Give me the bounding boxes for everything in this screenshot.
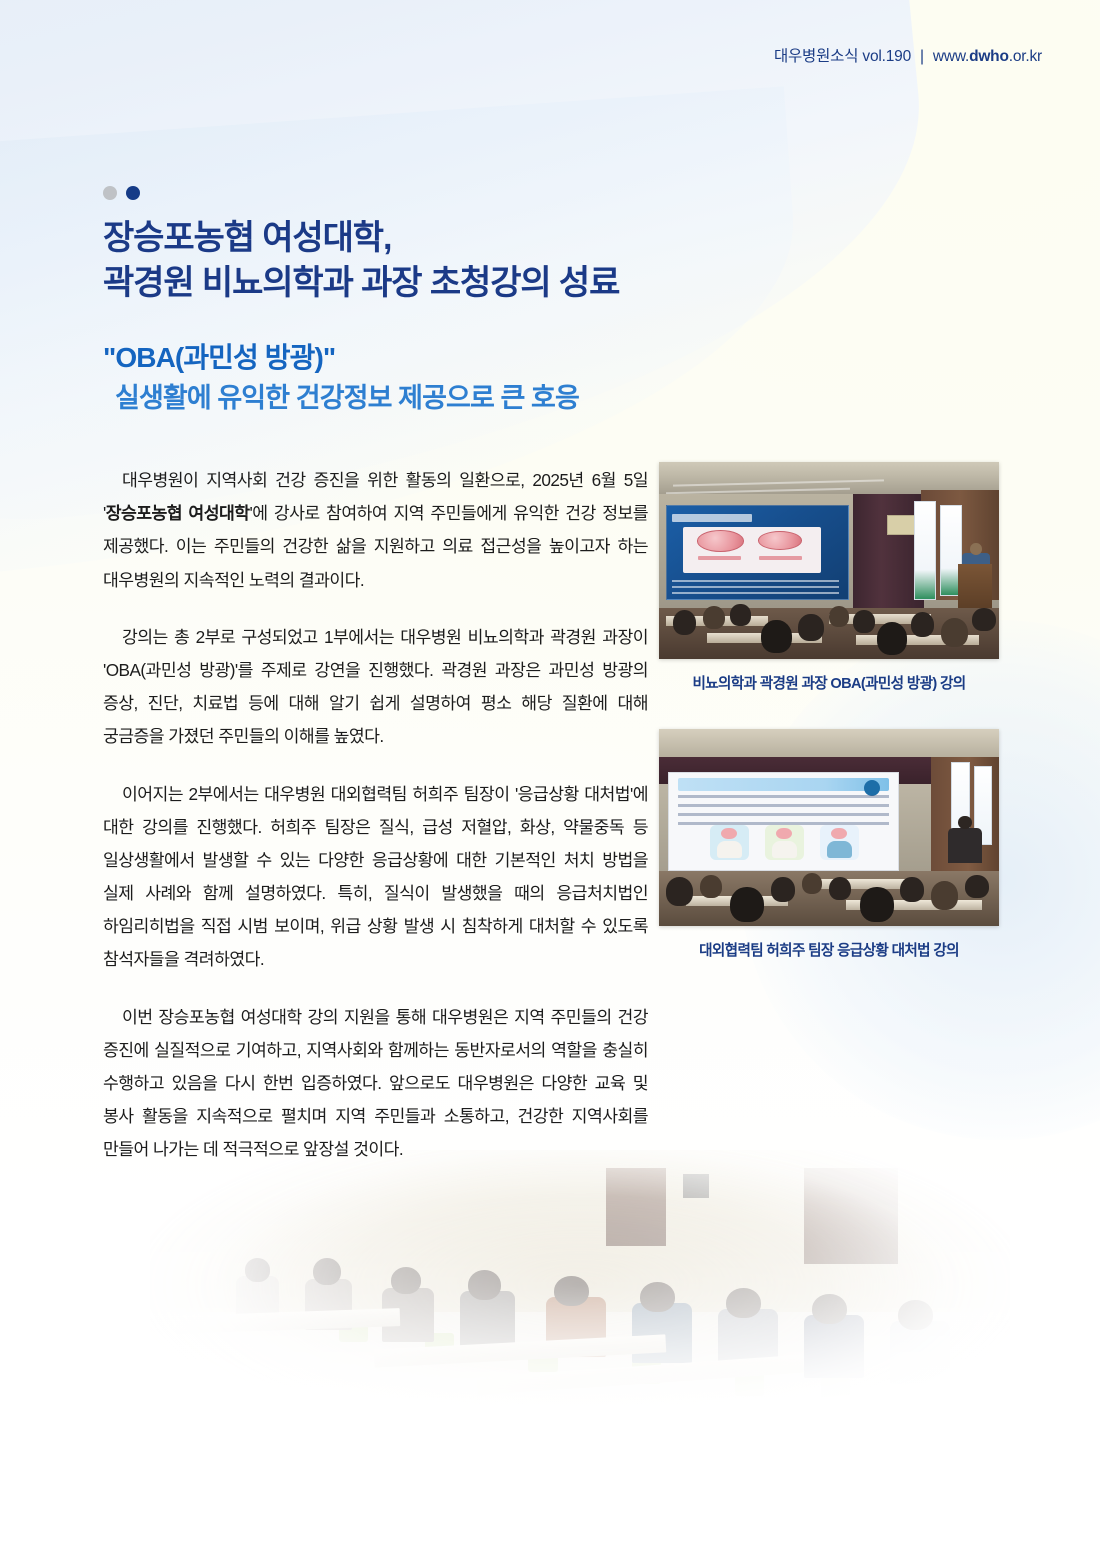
bottom-photo-attendee-head <box>640 1282 674 1312</box>
figure-emergency-lecture: 대외협력팀 허희주 팀장 응급상황 대처법 강의 <box>659 729 999 960</box>
photo2-illustration-body <box>772 841 797 858</box>
photo2-projection-screen <box>668 772 899 871</box>
photo1-slide-diagram-card <box>683 527 821 573</box>
article-paragraph-2: 강의는 총 2부로 구성되었고 1부에서는 대우병원 비뇨의학과 곽경원 과장이… <box>103 621 648 754</box>
masthead: 대우병원소식 vol.190|www.dwho.or.kr <box>774 44 1042 66</box>
photo1-diagram-bladder-relaxed <box>697 530 744 551</box>
page-title-line2: 곽경원 비뇨의학과 과장 초청강의 성료 <box>103 261 803 306</box>
article-body: 대우병원이 지역사회 건강 증진을 위한 활동의 일환으로, 2025년 6월 … <box>103 464 648 1167</box>
photo1-audience-head <box>877 622 908 655</box>
photo2-audience-head <box>771 877 795 903</box>
photo1-audience-head <box>761 620 792 653</box>
article-paragraph-3: 이어지는 2부에서는 대우병원 대외협력팀 허희주 팀장이 '응급상황 대처법'… <box>103 778 648 977</box>
photo1-audience-head <box>911 612 935 638</box>
photo2-audience-head <box>700 875 722 899</box>
photo1-diagram-arrow-1 <box>698 556 741 560</box>
article-paragraph-1: 대우병원이 지역사회 건강 증진을 위한 활동의 일환으로, 2025년 6월 … <box>103 464 648 597</box>
bottom-photo-attendee-head <box>726 1288 760 1318</box>
newsletter-page: 대우병원소식 vol.190|www.dwho.or.kr 장승포농협 여성대학… <box>0 0 1100 1556</box>
photo1-audience-head <box>673 610 697 636</box>
masthead-url[interactable]: www.dwho.or.kr <box>933 48 1042 65</box>
photo2-slide-illustration-3 <box>820 825 859 860</box>
photo2-illustration-head <box>721 828 737 840</box>
page-subtitle: "OBA(과민성 방광)" 실생활에 유익한 건강정보 제공으로 큰 호응 <box>103 340 803 416</box>
photo1-audience-head <box>730 604 750 626</box>
article-paragraph-4: 이번 장승포농협 여성대학 강의 지원을 통해 대우병원은 지역 주민들의 건강… <box>103 1001 648 1167</box>
bottom-photo-attendee-body <box>804 1315 864 1378</box>
page-subtitle-line2: 실생활에 유익한 건강정보 제공으로 큰 호응 <box>103 380 803 416</box>
photo2-audience-head <box>931 881 958 911</box>
photo1-audience-head <box>941 618 968 648</box>
bottom-photo-attendee-body <box>890 1321 950 1384</box>
photo2-desk-1 <box>812 879 907 889</box>
masthead-url-prefix: www. <box>933 48 969 65</box>
photo1-audience-head <box>829 606 849 628</box>
photo2-audience-head <box>802 873 822 895</box>
photo1-projection-screen <box>666 505 850 600</box>
photo1-speaker-head <box>970 543 982 555</box>
photo1-audience-head <box>798 614 824 642</box>
photo2-slide-illustration-2 <box>765 825 804 860</box>
masthead-url-suffix: .or.kr <box>1009 48 1042 65</box>
bottom-photo-door-1 <box>606 1168 666 1246</box>
photo1-diagram-arrow-2 <box>759 556 802 560</box>
photo2-audience-head <box>860 887 894 922</box>
photo2-illustration-body <box>717 841 742 858</box>
bottom-photo-attendee-head <box>554 1276 588 1306</box>
photo2-slide-header-bar <box>678 778 889 791</box>
bottom-photo-attendee-head <box>391 1267 421 1294</box>
page-title: 장승포농협 여성대학, 곽경원 비뇨의학과 과장 초청강의 성료 <box>103 216 803 306</box>
title-block: 장승포농협 여성대학, 곽경원 비뇨의학과 과장 초청강의 성료 "OBA(과민… <box>103 186 803 416</box>
photo2-ceiling <box>659 729 999 759</box>
masthead-url-brand: dwho <box>969 48 1009 65</box>
photo1-slide-text-lines <box>672 580 839 595</box>
bottom-photo-speaker-box <box>683 1174 709 1198</box>
photo2-audience-head <box>730 887 764 922</box>
figure-caption-emergency: 대외협력팀 허희주 팀장 응급상황 대처법 강의 <box>659 939 999 960</box>
photo2-slide-text-lines <box>678 795 889 826</box>
photo1-slide-title-bar <box>672 514 752 522</box>
photo-emergency-lecture <box>659 729 999 926</box>
photo-audience-wide <box>150 1150 1010 1450</box>
bottom-photo-attendee-head <box>898 1300 932 1330</box>
photo1-audience-head <box>853 610 875 634</box>
photo2-illustration-head <box>831 828 847 840</box>
photo2-speaker-head <box>958 816 972 830</box>
bottom-photo-attendee-head <box>812 1294 846 1324</box>
page-title-line1: 장승포농협 여성대학, <box>103 216 803 261</box>
photo2-slide-illustration-1 <box>710 825 749 860</box>
photo1-side-panel <box>887 515 918 535</box>
photo2-audience-head <box>965 875 989 899</box>
bottom-photo-attendee-head <box>245 1258 271 1282</box>
photo2-illustration-head <box>776 828 792 840</box>
photo1-banner-left <box>914 501 936 600</box>
photo2-speaker-body <box>948 828 982 863</box>
paragraph-1-emphasis: 장승포농협 여성대학 <box>106 503 250 523</box>
bottom-photo-door-2 <box>804 1168 899 1264</box>
bottom-photo-attendee-head <box>468 1270 501 1300</box>
masthead-separator: | <box>920 48 924 65</box>
photo2-audience-head <box>900 877 924 903</box>
decorative-dots <box>103 186 803 200</box>
photo2-audience-head <box>829 877 851 901</box>
photo2-illustration-body <box>827 841 852 858</box>
photo1-audience-head <box>703 606 725 630</box>
dot-navy-icon <box>126 186 140 200</box>
figure-caption-urology: 비뇨의학과 곽경원 과장 OBA(과민성 방광) 강의 <box>659 672 999 693</box>
page-subtitle-line1: "OBA(과민성 방광)" <box>103 340 803 376</box>
photo1-diagram-bladder-contracted <box>758 531 802 550</box>
bottom-photo-attendee-body <box>632 1303 692 1363</box>
bottom-photo-attendee-head <box>313 1258 341 1285</box>
photo-urology-lecture <box>659 462 999 659</box>
dot-gray-icon <box>103 186 117 200</box>
photo1-audience-head <box>972 608 996 632</box>
photo2-audience-head <box>666 877 693 907</box>
photo1-podium <box>958 564 992 607</box>
masthead-publication: 대우병원소식 vol.190 <box>774 48 911 65</box>
figure-urology-lecture: 비뇨의학과 곽경원 과장 OBA(과민성 방광) 강의 <box>659 462 999 693</box>
